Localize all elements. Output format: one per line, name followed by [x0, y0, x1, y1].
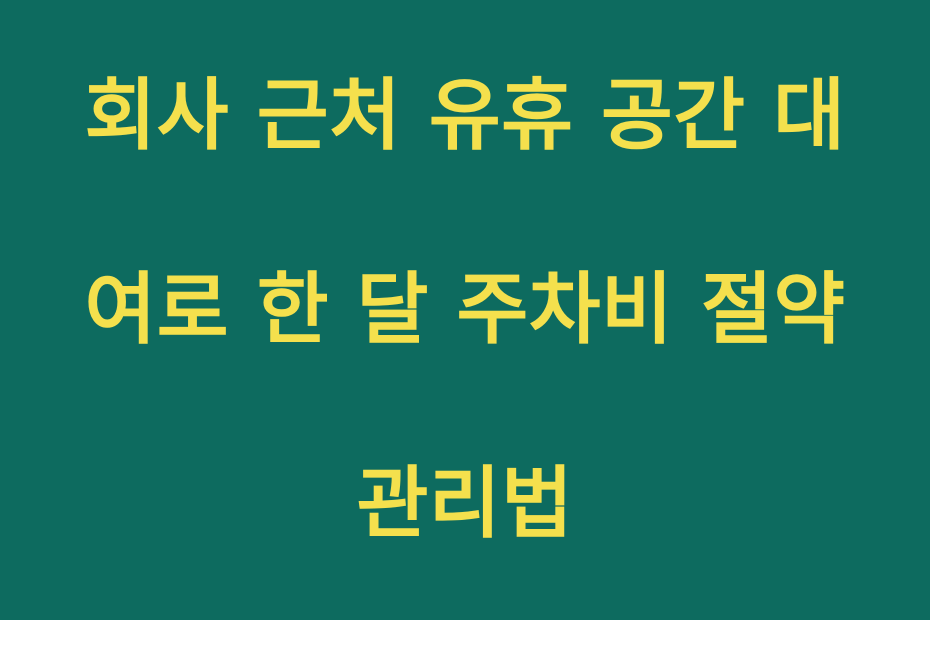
page-title: 회사 근처 유휴 공간 대 여로 한 달 주차비 절약 관리법 — [65, 0, 865, 650]
headline-line-1: 회사 근처 유휴 공간 대 — [65, 68, 865, 165]
headline-line-2: 여로 한 달 주차비 절약 — [65, 262, 865, 359]
headline-line-3: 관리법 — [65, 456, 865, 553]
thumbnail-card: 회사 근처 유휴 공간 대 여로 한 달 주차비 절약 관리법 — [0, 0, 930, 620]
